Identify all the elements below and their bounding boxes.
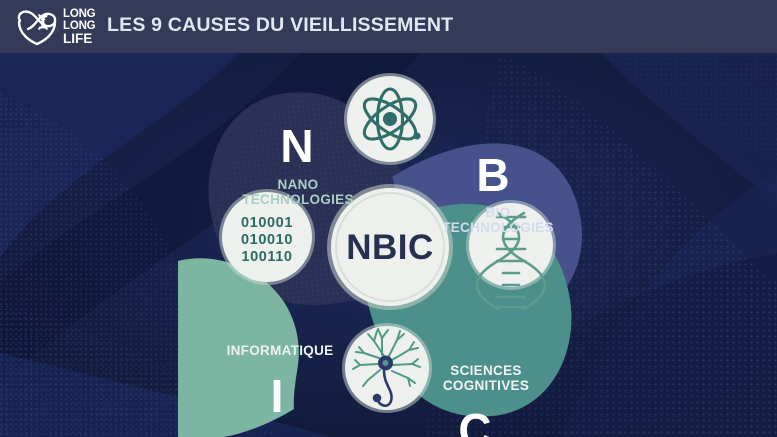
nbic-diagram: N NANO TECHNOLOGIES B BIO TECHNOLOGIES I…	[178, 53, 602, 437]
longlonglife-dna-heart-icon	[14, 8, 62, 46]
neuron-icon-bubble	[342, 323, 432, 413]
nbic-center-bubble	[327, 184, 453, 310]
atom-icon-bubble	[344, 73, 436, 165]
brand-word-3: LIFE	[63, 32, 95, 45]
brand-wordmark: LONG LONG LIFE	[63, 9, 95, 45]
brand-word-1: LONG	[63, 9, 95, 21]
brand-logo[interactable]: LONG LONG LIFE	[14, 5, 102, 49]
page-title: LES 9 CAUSES DU VIEILLISSEMENT	[107, 14, 453, 37]
infographic-page: N NANO TECHNOLOGIES B BIO TECHNOLOGIES I…	[0, 0, 777, 437]
binary-icon-bubble	[219, 189, 315, 285]
header-bar: LONG LONG LIFE LES 9 CAUSES DU VIEILLISS…	[0, 0, 777, 53]
